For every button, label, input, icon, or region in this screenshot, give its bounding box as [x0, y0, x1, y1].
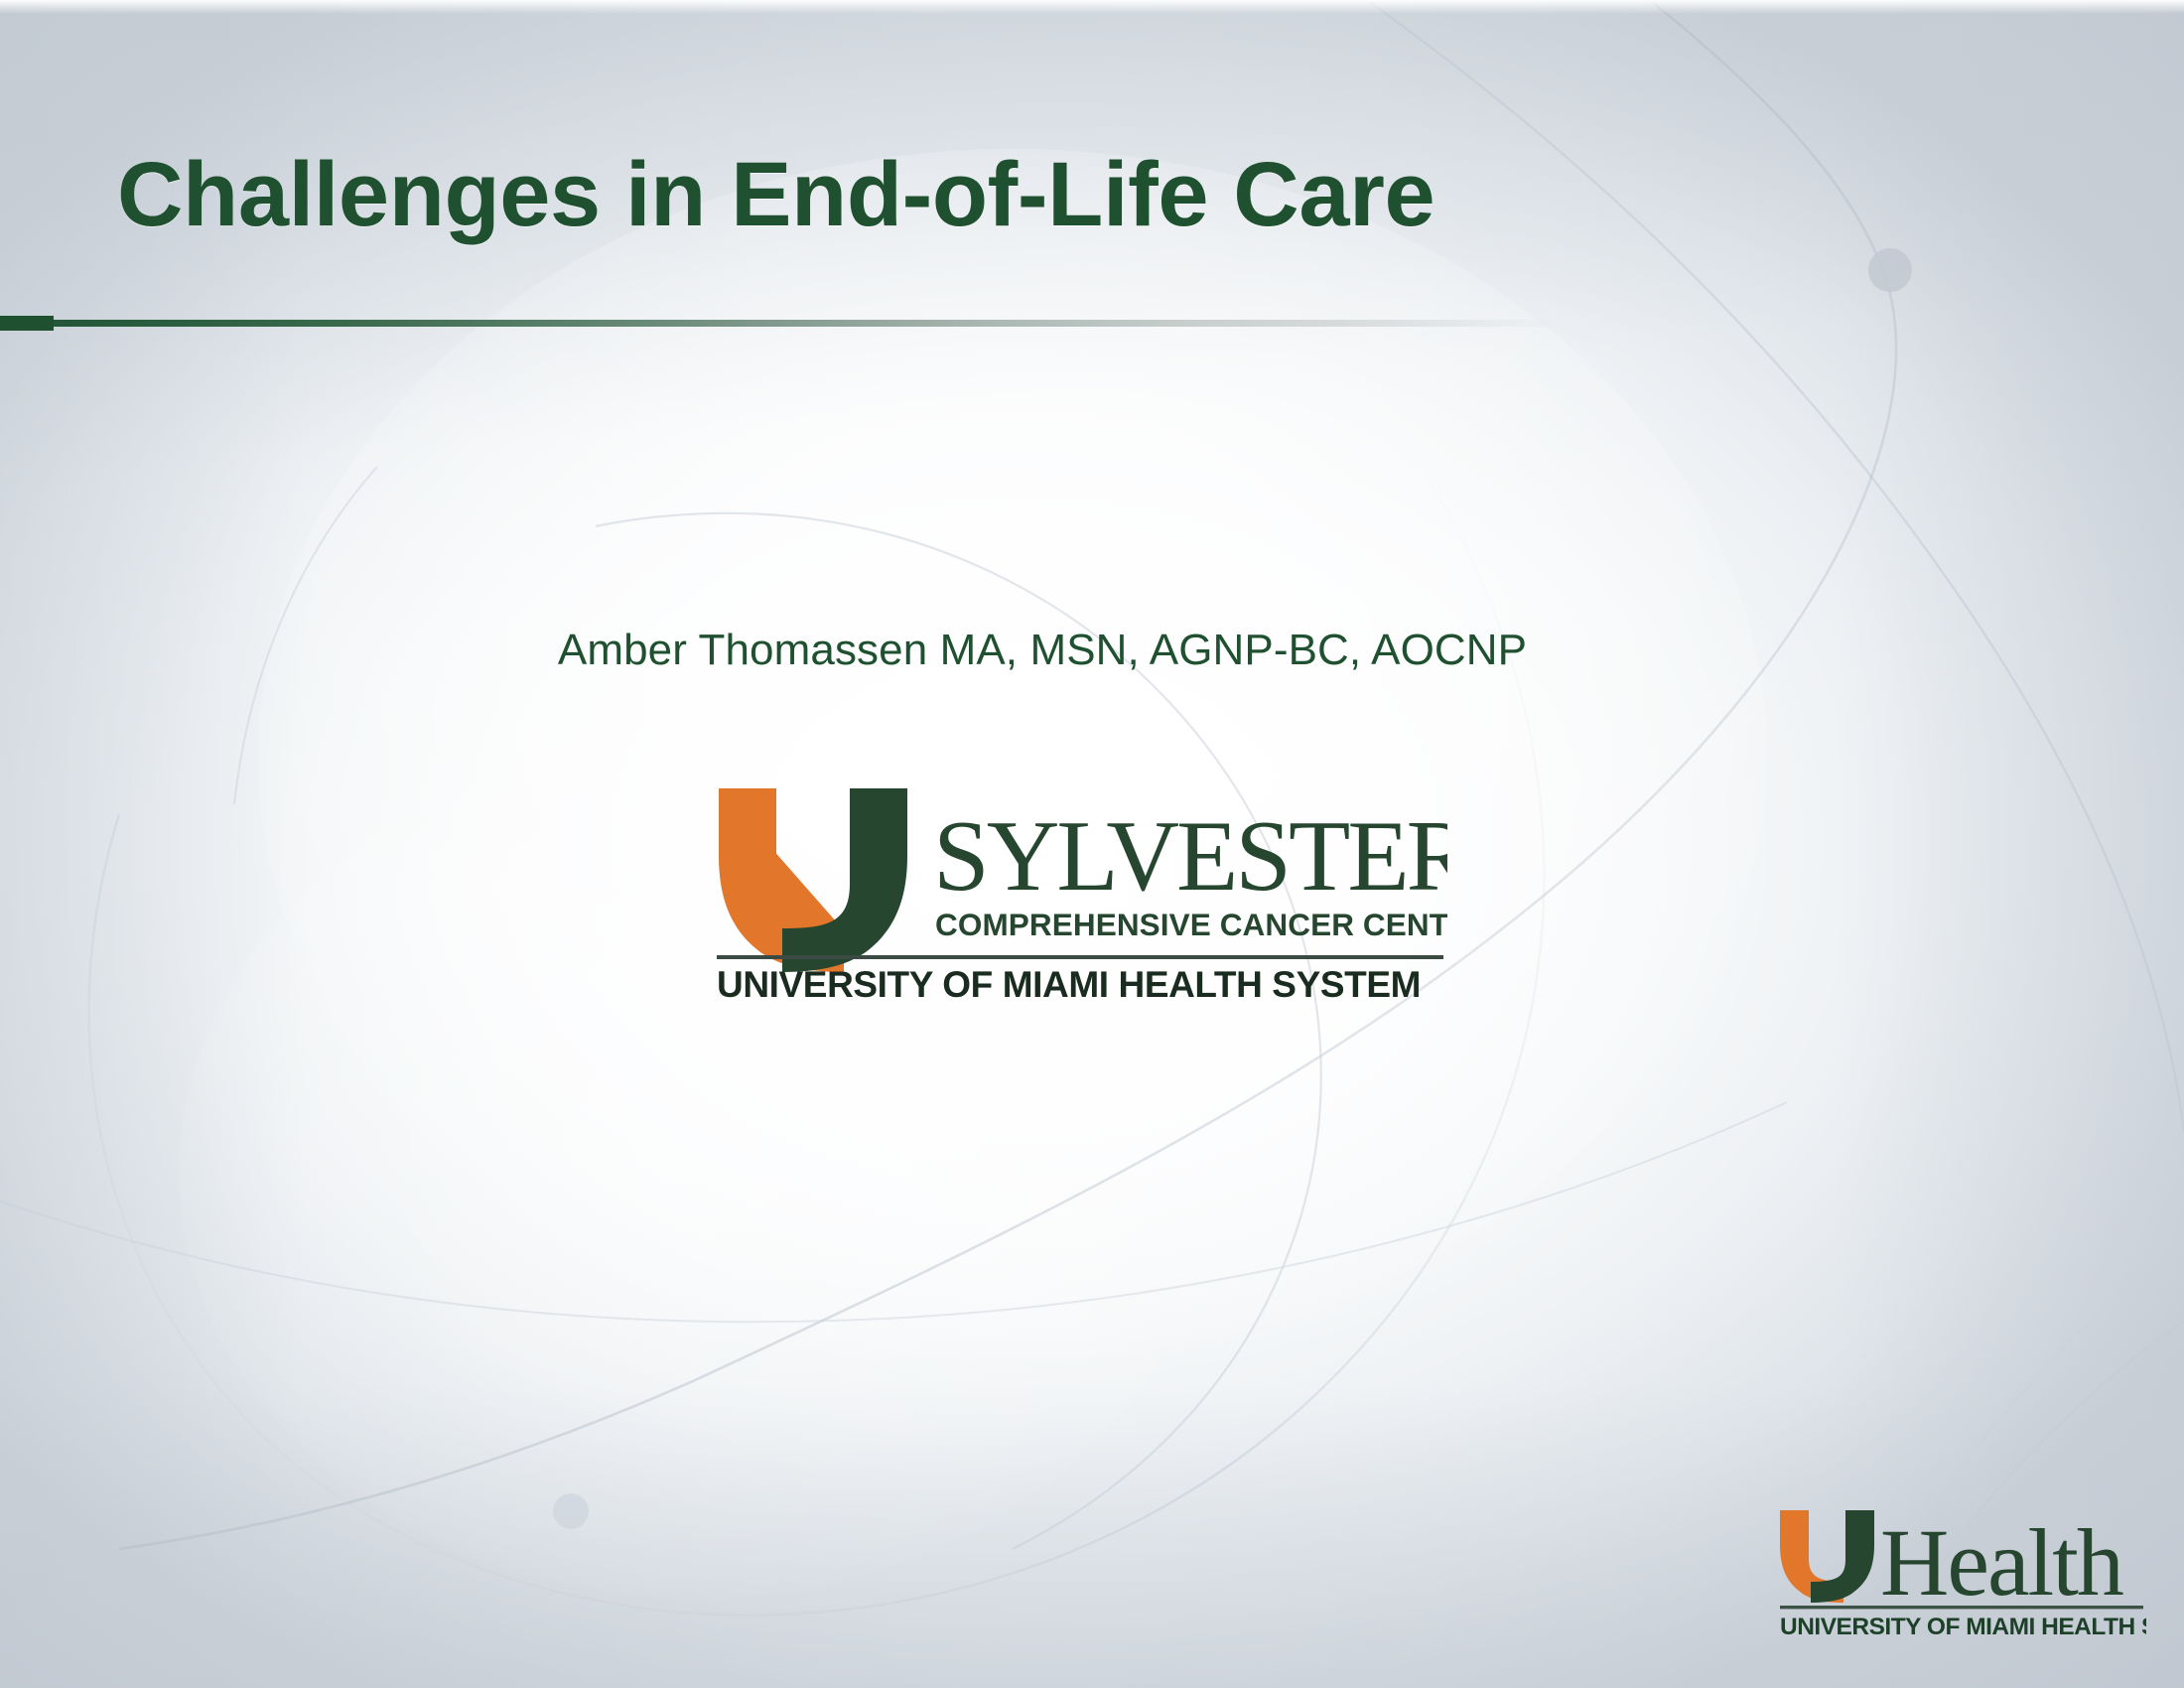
page-title: Challenges in End-of-Life Care — [117, 147, 1805, 244]
title-divider-accent — [0, 316, 54, 331]
sylvester-subline: UNIVERSITY OF MIAMI HEALTH SYSTEM — [717, 964, 1421, 1001]
miami-u-monogram-icon — [1780, 1510, 1874, 1603]
slide-top-sheen — [0, 0, 2184, 14]
sylvester-tagline: COMPREHENSIVE CANCER CENTER — [935, 907, 1447, 942]
author-name: Amber Thomassen MA, MSN, AGNP-BC, AOCNP — [0, 626, 2085, 675]
uhealth-logo: Health UNIVERSITY OF MIAMI HEALTH SYSTEM — [1777, 1507, 2146, 1638]
uhealth-subline: UNIVERSITY OF MIAMI HEALTH SYSTEM — [1780, 1614, 2146, 1638]
title-block: Challenges in End-of-Life Care — [117, 147, 1805, 244]
sylvester-logo-divider — [717, 955, 1443, 959]
slide-canvas: Challenges in End-of-Life Care Amber Tho… — [0, 0, 2184, 1688]
sylvester-comprehensive-cancer-center-logo: SYLVESTER COMPREHENSIVE CANCER CENTER UN… — [713, 786, 1447, 1001]
sylvester-wordmark: SYLVESTER — [933, 800, 1447, 913]
uhealth-logo-divider — [1780, 1606, 2143, 1609]
uhealth-wordmark: Health — [1880, 1509, 2123, 1616]
title-divider — [0, 320, 1570, 327]
